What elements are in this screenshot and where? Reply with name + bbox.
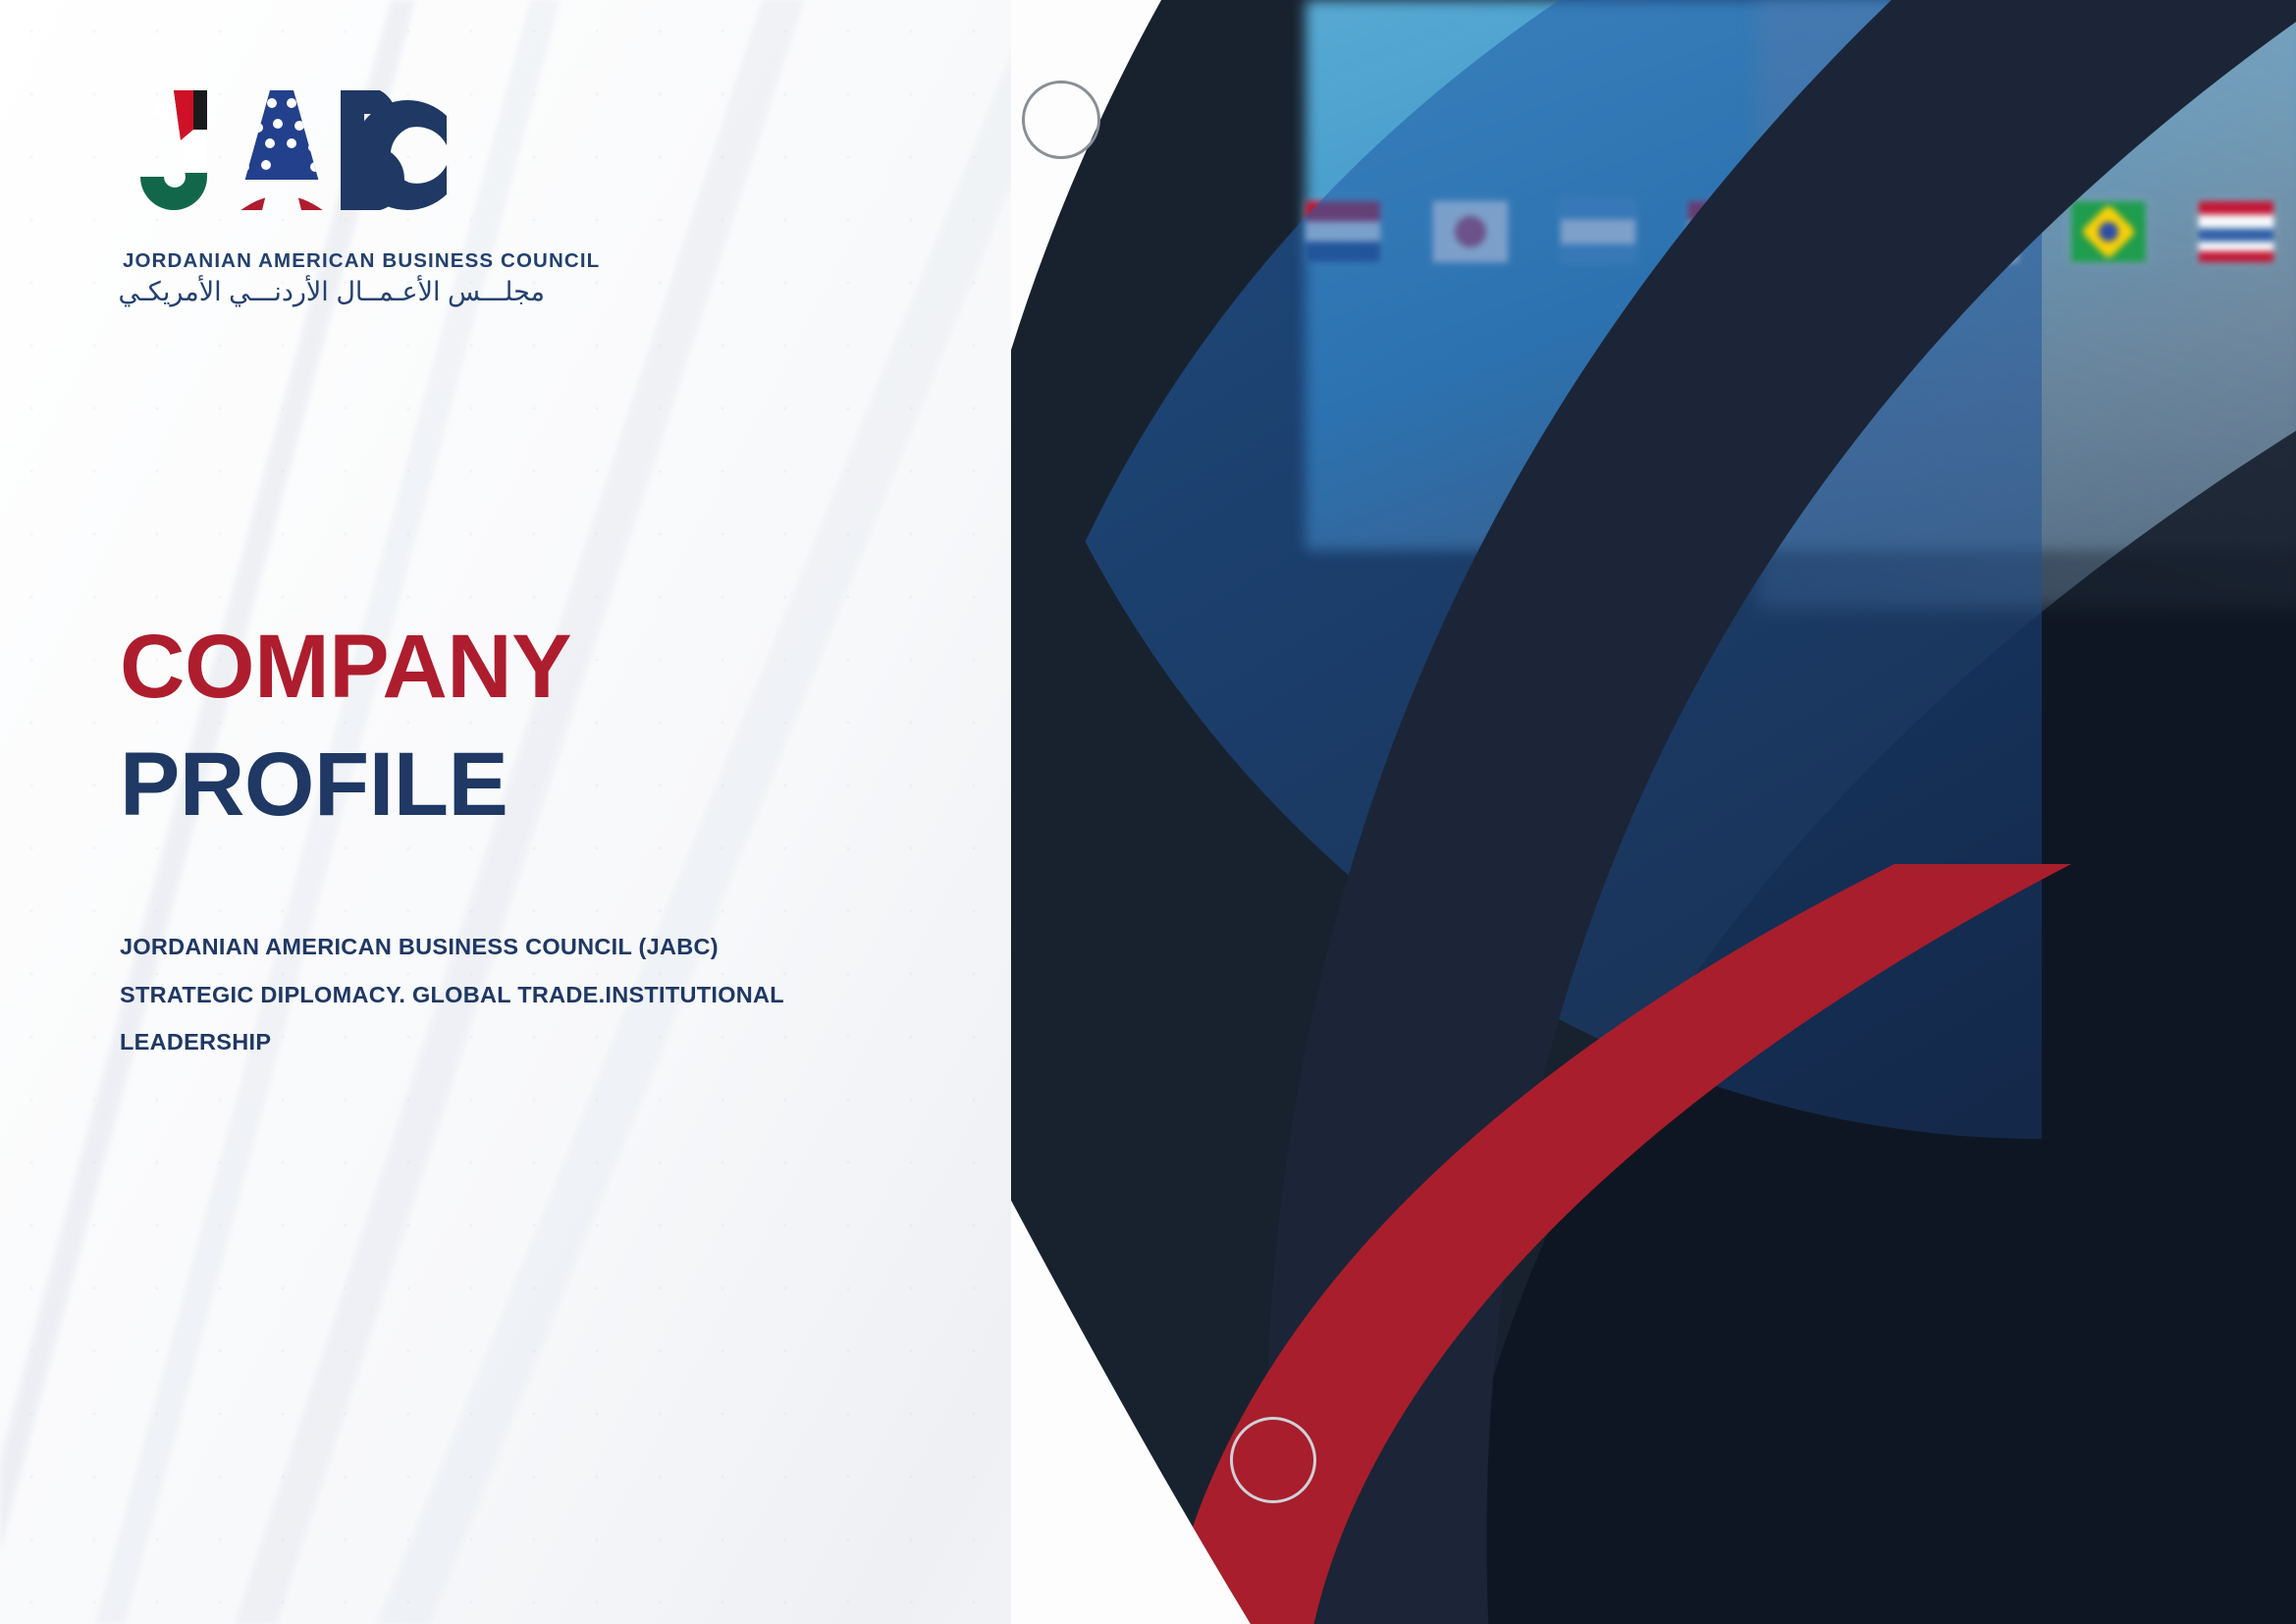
- logo-name-arabic: مجلـــس الأعـمــال الأردنـــي الأمريكـي: [123, 277, 545, 307]
- title-line-profile: PROFILE: [120, 738, 571, 833]
- page-title: COMPANY PROFILE: [120, 621, 571, 832]
- logo-name-english: JORDANIAN AMERICAN BUSINESS COUNCIL: [123, 249, 633, 273]
- subtitle-line-1: JORDANIAN AMERICAN BUSINESS COUNCIL (JAB…: [120, 923, 895, 971]
- company-profile-cover: JORDANIAN AMERICAN BUSINESS COUNCIL مجلـ…: [0, 0, 2296, 1624]
- jabc-wordmark-icon: [123, 86, 633, 234]
- brazil-flag: [2071, 201, 2146, 262]
- decorative-circle-top: [1022, 81, 1100, 159]
- cover-subtitle: JORDANIAN AMERICAN BUSINESS COUNCIL (JAB…: [120, 923, 895, 1066]
- subtitle-line-2: STRATEGIC DIPLOMACY. GLOBAL TRADE.INSTIT…: [120, 971, 895, 1019]
- letter-j-jordan-flag: [133, 86, 231, 222]
- jordan-star-icon: [152, 97, 175, 123]
- subtitle-line-3: LEADERSHIP: [120, 1018, 895, 1066]
- letter-a-usa-flag: [225, 86, 339, 234]
- jabc-logo: JORDANIAN AMERICAN BUSINESS COUNCIL مجلـ…: [123, 86, 633, 307]
- decorative-circle-bottom: [1230, 1417, 1316, 1503]
- costa-rica-flag: [2199, 201, 2273, 262]
- cover-artwork: [1011, 0, 2296, 1624]
- title-line-company: COMPANY: [120, 621, 571, 715]
